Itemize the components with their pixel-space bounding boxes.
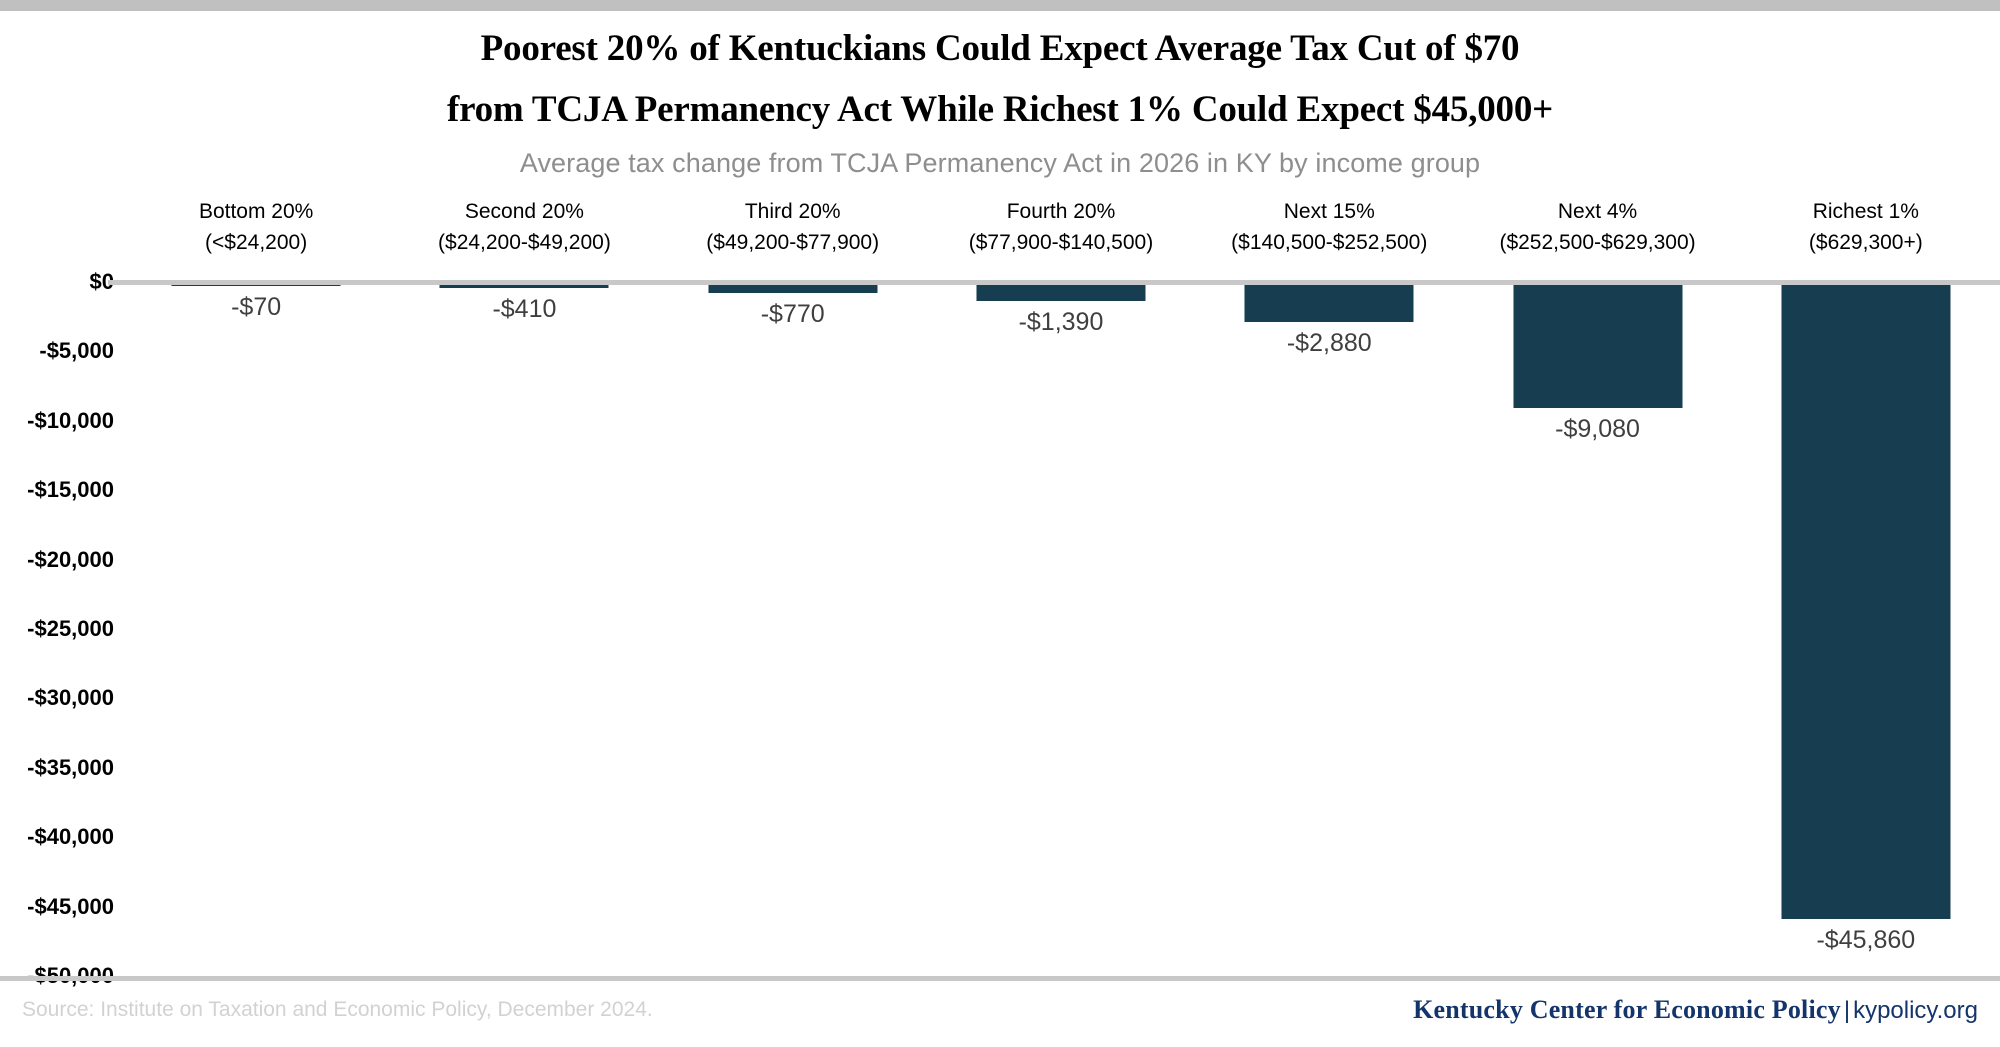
brand-name: Kentucky Center for Economic Policy bbox=[1413, 995, 1841, 1024]
category-range: ($252,500-$629,300) bbox=[1463, 227, 1731, 258]
chart-footer: Source: Institute on Taxation and Econom… bbox=[0, 985, 2000, 1047]
category-name: Next 15% bbox=[1195, 196, 1463, 227]
bar-column: Second 20%($24,200-$49,200)-$410 bbox=[390, 196, 658, 976]
bar-value-label: -$9,080 bbox=[1463, 415, 1731, 444]
brand-credit: Kentucky Center for Economic Policy|kypo… bbox=[1413, 995, 1978, 1025]
category-label: Richest 1%($629,300+) bbox=[1732, 196, 2000, 258]
brand-url[interactable]: kypolicy.org bbox=[1853, 997, 1978, 1024]
bottom-axis-line bbox=[0, 976, 2000, 981]
category-range: ($24,200-$49,200) bbox=[390, 227, 658, 258]
category-range: ($49,200-$77,900) bbox=[659, 227, 927, 258]
y-axis-tick-label: $0 bbox=[0, 269, 114, 295]
category-name: Fourth 20% bbox=[927, 196, 1195, 227]
bar-value-label: -$45,860 bbox=[1732, 926, 2000, 955]
bar-column: Richest 1%($629,300+)-$45,860 bbox=[1732, 196, 2000, 976]
y-axis-tick-label: -$15,000 bbox=[0, 477, 114, 503]
bar[interactable] bbox=[1781, 282, 1950, 919]
category-name: Next 4% bbox=[1463, 196, 1731, 227]
source-note: Source: Institute on Taxation and Econom… bbox=[22, 998, 653, 1022]
top-accent-bar bbox=[0, 0, 2000, 11]
category-range: (<$24,200) bbox=[122, 227, 390, 258]
category-range: ($77,900-$140,500) bbox=[927, 227, 1195, 258]
y-axis-tick-label: -$20,000 bbox=[0, 547, 114, 573]
y-axis-tick-label: -$10,000 bbox=[0, 408, 114, 434]
zero-baseline bbox=[108, 280, 2000, 285]
bar[interactable] bbox=[1513, 282, 1682, 408]
bar-column: Fourth 20%($77,900-$140,500)-$1,390 bbox=[927, 196, 1195, 976]
bar-value-label: -$1,390 bbox=[927, 308, 1195, 337]
bar-column: Next 4%($252,500-$629,300)-$9,080 bbox=[1463, 196, 1731, 976]
y-axis-tick-label: -$25,000 bbox=[0, 616, 114, 642]
y-axis-tick-label: -$35,000 bbox=[0, 755, 114, 781]
bar-value-label: -$410 bbox=[390, 295, 658, 324]
category-label: Second 20%($24,200-$49,200) bbox=[390, 196, 658, 258]
category-label: Next 4%($252,500-$629,300) bbox=[1463, 196, 1731, 258]
category-range: ($629,300+) bbox=[1732, 227, 2000, 258]
bar-value-label: -$70 bbox=[122, 293, 390, 322]
bar-column: Bottom 20%(<$24,200)-$70 bbox=[122, 196, 390, 976]
y-axis: $0-$5,000-$10,000-$15,000-$20,000-$25,00… bbox=[0, 196, 122, 976]
category-name: Second 20% bbox=[390, 196, 658, 227]
category-label: Bottom 20%(<$24,200) bbox=[122, 196, 390, 258]
bar-value-label: -$770 bbox=[659, 300, 927, 329]
chart-plot-area: $0-$5,000-$10,000-$15,000-$20,000-$25,00… bbox=[0, 196, 2000, 976]
chart-subtitle: Average tax change from TCJA Permanency … bbox=[0, 148, 2000, 179]
category-label: Third 20%($49,200-$77,900) bbox=[659, 196, 927, 258]
y-axis-tick-label: -$45,000 bbox=[0, 894, 114, 920]
bar-column: Next 15%($140,500-$252,500)-$2,880 bbox=[1195, 196, 1463, 976]
bar-columns: Bottom 20%(<$24,200)-$70Second 20%($24,2… bbox=[122, 196, 2000, 976]
category-range: ($140,500-$252,500) bbox=[1195, 227, 1463, 258]
y-axis-tick-label: -$30,000 bbox=[0, 685, 114, 711]
category-name: Bottom 20% bbox=[122, 196, 390, 227]
chart-title-line-2: from TCJA Permanency Act While Richest 1… bbox=[0, 79, 2000, 140]
category-name: Third 20% bbox=[659, 196, 927, 227]
category-label: Next 15%($140,500-$252,500) bbox=[1195, 196, 1463, 258]
bar-value-label: -$2,880 bbox=[1195, 329, 1463, 358]
chart-title-block: Poorest 20% of Kentuckians Could Expect … bbox=[0, 18, 2000, 140]
y-axis-tick-label: -$40,000 bbox=[0, 824, 114, 850]
bar-column: Third 20%($49,200-$77,900)-$770 bbox=[659, 196, 927, 976]
category-label: Fourth 20%($77,900-$140,500) bbox=[927, 196, 1195, 258]
bar[interactable] bbox=[1245, 282, 1414, 322]
y-axis-tick-label: -$5,000 bbox=[0, 338, 114, 364]
chart-title-line-1: Poorest 20% of Kentuckians Could Expect … bbox=[0, 18, 2000, 79]
category-name: Richest 1% bbox=[1732, 196, 2000, 227]
brand-separator: | bbox=[1841, 997, 1853, 1024]
